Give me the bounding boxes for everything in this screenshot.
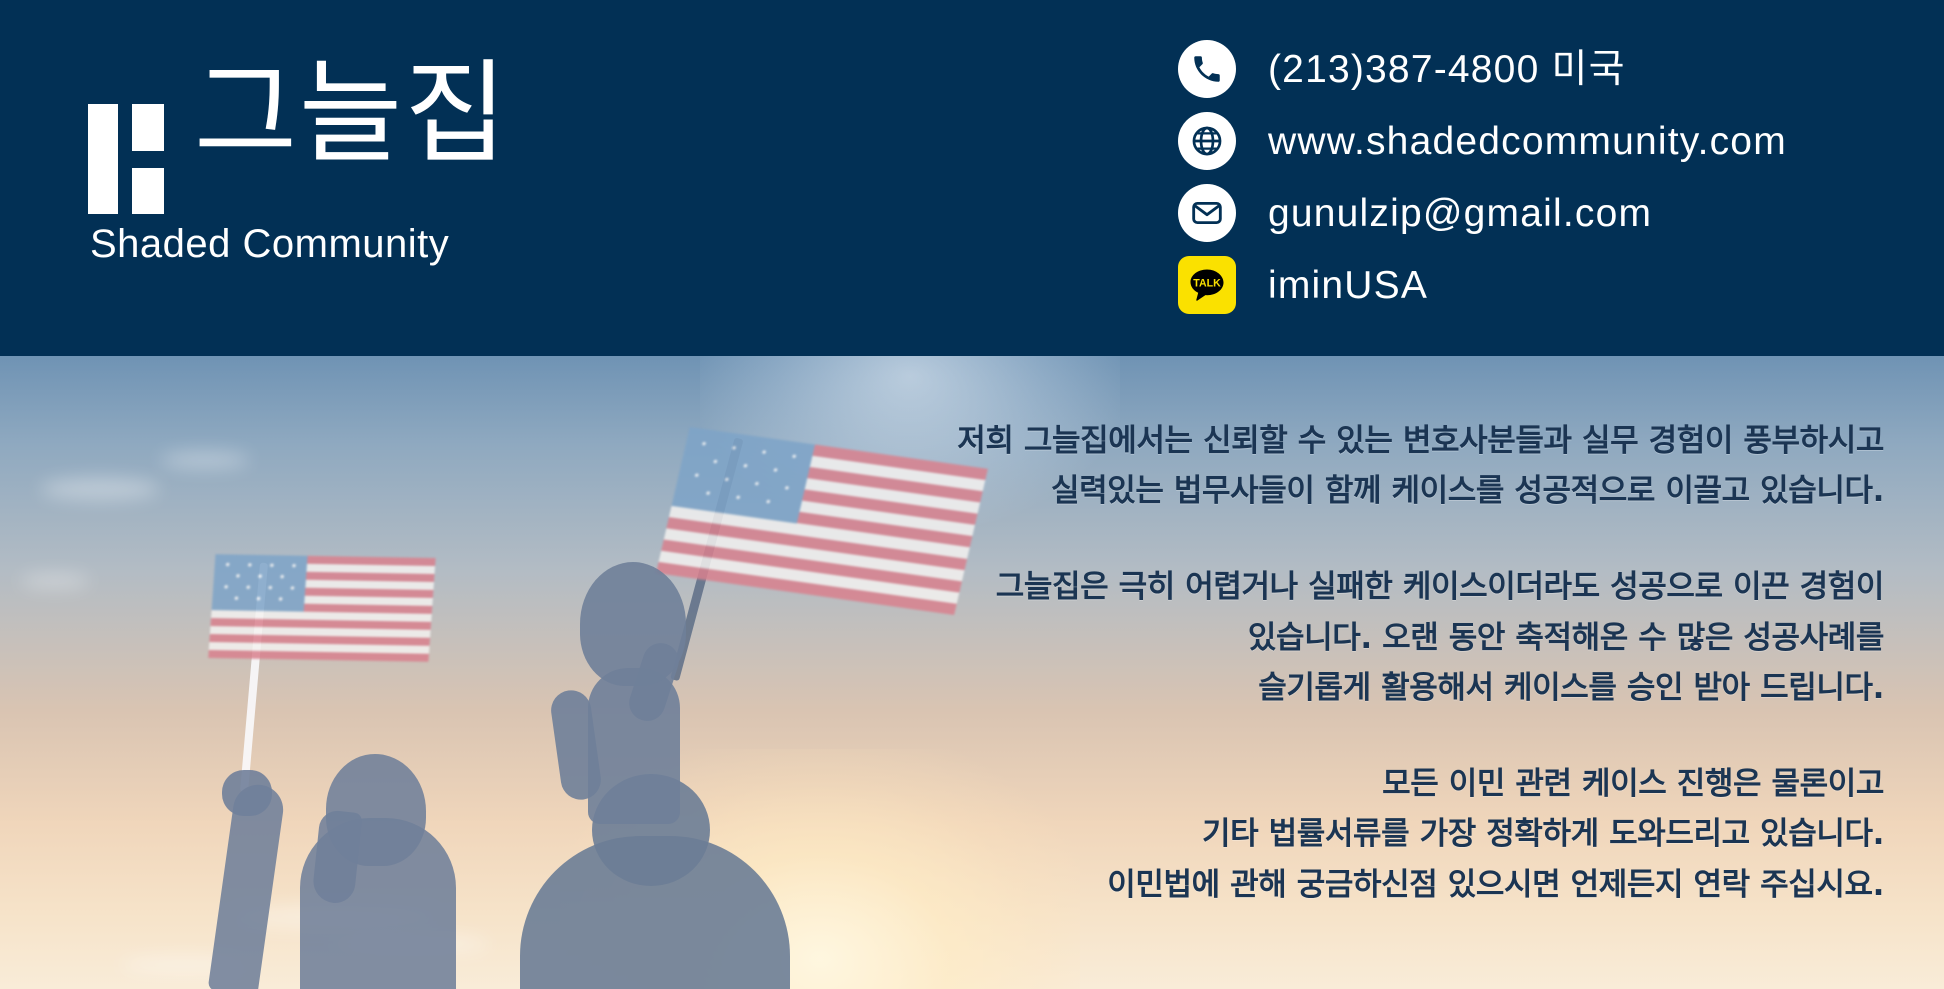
website-url-text: www.shadedcommunity.com: [1268, 122, 1787, 161]
email-address-text: gunulzip@gmail.com: [1268, 194, 1652, 233]
logo-bar-right-top: [132, 104, 164, 151]
kakaotalk-icon: TALK: [1178, 256, 1236, 314]
svg-text:TALK: TALK: [1193, 278, 1221, 290]
globe-icon-wrap: [1178, 112, 1236, 170]
mail-icon: [1178, 184, 1236, 242]
description-panel: 저희 그늘집에서는 신뢰할 수 있는 변호사분들과 실무 경험이 풍부하시고 실…: [860, 356, 1944, 989]
brand-name-english: Shaded Community: [90, 222, 449, 267]
paragraph-line: 그늘집은 극히 어렵거나 실패한 케이스이더라도 성공으로 이끈 경험이: [860, 562, 1884, 612]
contact-row-email[interactable]: gunulzip@gmail.com: [1178, 184, 1787, 242]
woman-hand-silhouette: [222, 770, 272, 816]
paragraph-line: 이민법에 관해 궁금하신점 있으시면 언제든지 연락 주십시요.: [860, 860, 1884, 910]
kakaotalk-icon-wrap: TALK: [1178, 256, 1236, 314]
logo-bar-left: [88, 104, 118, 214]
contact-row-kakaotalk[interactable]: TALK iminUSA: [1178, 256, 1787, 314]
contact-row-phone[interactable]: (213)387-4800 미국: [1178, 40, 1787, 98]
paragraph-experience: 그늘집은 극히 어렵거나 실패한 케이스이더라도 성공으로 이끈 경험이 있습니…: [860, 562, 1884, 713]
contact-row-website[interactable]: www.shadedcommunity.com: [1178, 112, 1787, 170]
child-head-silhouette: [580, 562, 686, 686]
phone-icon: [1178, 40, 1236, 98]
paragraph-line: 기타 법률서류를 가장 정확하게 도와드리고 있습니다.: [860, 809, 1884, 859]
paragraph-line: 실력있는 법무사들이 함께 케이스를 성공적으로 이끌고 있습니다.: [860, 466, 1884, 516]
paragraph-line: 모든 이민 관련 케이스 진행은 물론이고: [860, 759, 1884, 809]
paragraph-line: 저희 그늘집에서는 신뢰할 수 있는 변호사분들과 실무 경험이 풍부하시고: [860, 416, 1884, 466]
family-silhouette-photo: [0, 356, 1000, 989]
kakaotalk-id-text: iminUSA: [1268, 266, 1428, 305]
two-bar-mark-icon: [88, 104, 164, 214]
flag-stars: [212, 554, 308, 611]
brand-name-korean: 그늘집: [194, 58, 509, 170]
logo-row: 그늘집: [88, 58, 509, 214]
paragraph-line: 있습니다. 오랜 동안 축적해온 수 많은 성공사례를: [860, 613, 1884, 663]
header-bar: 그늘집 Shaded Community (213)387-4800 미국: [0, 0, 1944, 356]
paragraph-line: 슬기롭게 활용해서 케이스를 승인 받아 드립니다.: [860, 663, 1884, 713]
paragraph-services: 모든 이민 관련 케이스 진행은 물론이고 기타 법률서류를 가장 정확하게 도…: [860, 759, 1884, 910]
paragraph-intro: 저희 그늘집에서는 신뢰할 수 있는 변호사분들과 실무 경험이 풍부하시고 실…: [860, 416, 1884, 516]
woman-head-silhouette: [326, 754, 426, 866]
us-flag-left-icon: [208, 554, 436, 662]
phone-number-text: (213)387-4800 미국: [1268, 50, 1626, 89]
mail-icon-wrap: [1178, 184, 1236, 242]
brand-logo[interactable]: 그늘집 Shaded Community: [88, 58, 509, 267]
contact-list: (213)387-4800 미국 www.shadedco: [1178, 40, 1787, 314]
phone-icon-wrap: [1178, 40, 1236, 98]
logo-bar-right-bottom: [132, 168, 164, 214]
promo-banner: 그늘집 Shaded Community (213)387-4800 미국: [0, 0, 1944, 989]
globe-icon: [1178, 112, 1236, 170]
